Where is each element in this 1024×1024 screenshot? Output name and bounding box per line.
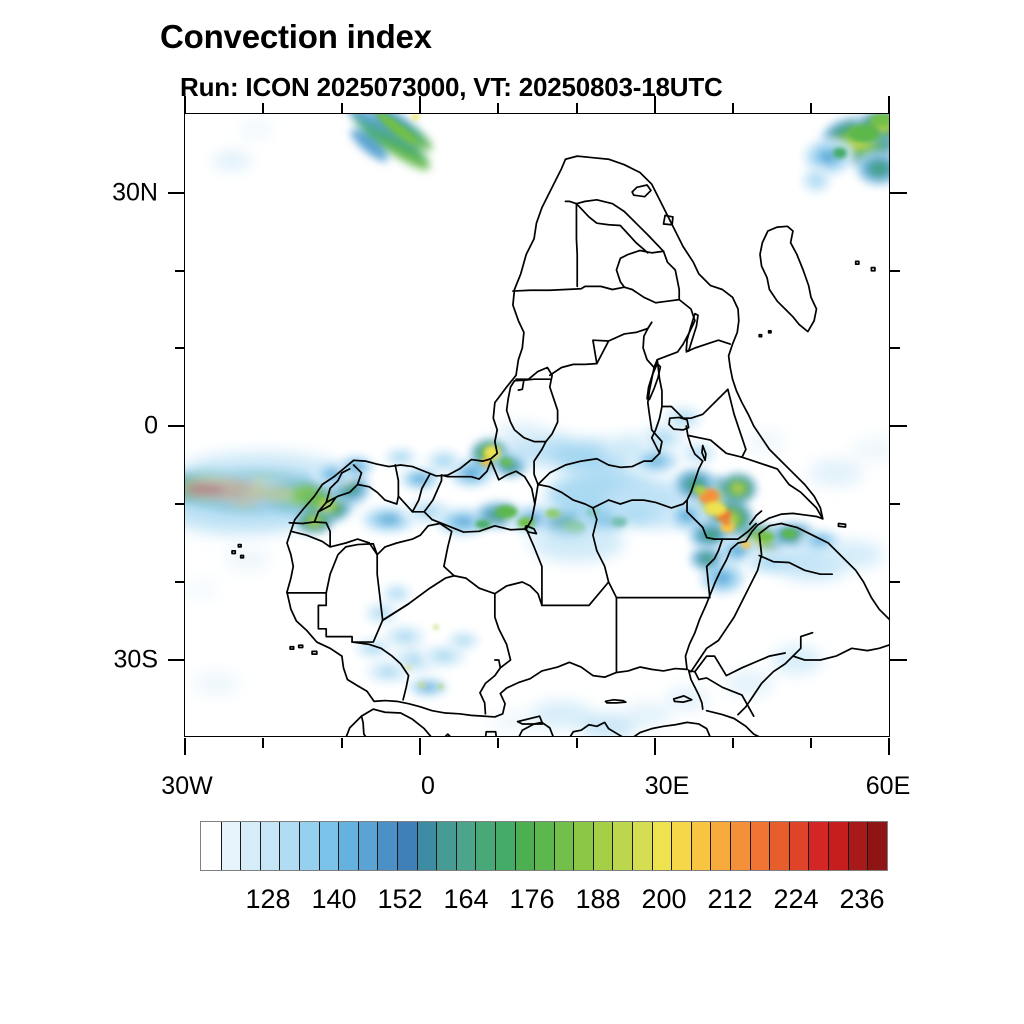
y-tick-minor-10n [175,347,185,349]
colorbar-cell-28 [750,822,770,870]
colorbar-cell-24 [671,822,691,870]
x-tick-top-minor-20w [262,103,264,113]
colorbar-label-152: 152 [377,884,422,915]
colorbar-cell-17 [534,822,554,870]
colorbar-label-164: 164 [443,884,488,915]
colorbar-cell-13 [456,822,476,870]
colorbar-label-224: 224 [773,884,818,915]
y-tick-minor-20s [175,581,185,583]
colorbar-cell-23 [652,822,672,870]
x-tick-top-minor-50e [810,103,812,113]
colorbar-cell-14 [475,822,495,870]
x-axis-label-30e: 30E [645,772,689,801]
colorbar-cell-18 [554,822,574,870]
colorbar-label-200: 200 [641,884,686,915]
x-tick-top-minor-10w [341,103,343,113]
x-tick-0 [419,738,421,755]
y-axis-label-30s: 30S [98,646,158,675]
y-tick-right-minor-20n [890,270,900,272]
colorbar-cell-21 [612,822,632,870]
x-tick-minor-20w [262,738,264,748]
colorbar-label-188: 188 [575,884,620,915]
run-info-subtitle: Run: ICON 2025073000, VT: 20250803-18UTC [180,72,723,103]
colorbar-cell-26 [710,822,730,870]
colorbar-label-140: 140 [311,884,356,915]
colorbar-cell-31 [808,822,828,870]
x-axis-label-60e: 60E [866,772,910,801]
x-axis-label-0: 0 [421,772,435,801]
colorbar-cell-12 [436,822,456,870]
y-tick-30s [168,659,185,661]
colorbar-cell-22 [632,822,652,870]
x-tick-minor-40e [732,738,734,748]
colorbar-cell-34 [867,822,887,870]
colorbar-cell-15 [495,822,515,870]
colorbar-cell-10 [397,822,417,870]
y-axis-label-30n: 30N [98,179,158,208]
colorbar-cell-5 [299,822,319,870]
x-tick-top-minor-40e [732,103,734,113]
colorbar-label-212: 212 [707,884,752,915]
y-tick-right-30s [890,659,907,661]
colorbar-cell-6 [319,822,339,870]
map-canvas [185,114,890,737]
y-tick-right-minor-10n [890,347,900,349]
y-tick-minor-10s [175,503,185,505]
x-tick-30w [184,738,186,755]
colorbar-cell-11 [417,822,437,870]
colorbar-cell-33 [848,822,868,870]
x-tick-60e [888,738,890,755]
convection-field [185,114,890,737]
x-tick-top-0 [419,96,421,113]
colorbar-cell-0 [201,822,221,870]
x-tick-minor-20e [576,738,578,748]
y-tick-minor-20n [175,270,185,272]
y-tick-0 [168,425,185,427]
colorbar-cell-9 [377,822,397,870]
y-axis-label-0: 0 [98,412,158,441]
colorbar-cell-27 [730,822,750,870]
y-tick-right-0 [890,425,907,427]
colorbar-cell-7 [338,822,358,870]
y-tick-right-30n [890,192,907,194]
colorbar-cell-29 [769,822,789,870]
x-tick-minor-10w [341,738,343,748]
x-tick-30e [654,738,656,755]
colorbar-cell-20 [593,822,613,870]
x-tick-minor-50e [810,738,812,748]
x-tick-minor-10e [497,738,499,748]
colorbar-label-236: 236 [839,884,884,915]
y-tick-right-minor-20s [890,581,900,583]
colorbar-label-176: 176 [509,884,554,915]
colorbar-cell-32 [828,822,848,870]
y-tick-30n [168,192,185,194]
colorbar-cell-1 [221,822,241,870]
x-axis-label-30w: 30W [161,772,212,801]
x-tick-top-30e [654,96,656,113]
x-tick-top-30w [184,96,186,113]
colorbar-label-128: 128 [245,884,290,915]
y-tick-right-minor-10s [890,503,900,505]
x-tick-top-60e [888,96,890,113]
colorbar-cell-30 [789,822,809,870]
colorbar-cell-4 [279,822,299,870]
convection-index-figure: Convection index Run: ICON 2025073000, V… [0,0,1024,1024]
colorbar-cell-19 [573,822,593,870]
colorbar-cell-3 [260,822,280,870]
map-plot-area [184,113,890,737]
colorbar[interactable] [200,821,888,871]
colorbar-cell-25 [691,822,711,870]
x-tick-top-minor-10e [497,103,499,113]
colorbar-cell-8 [358,822,378,870]
colorbar-cell-2 [240,822,260,870]
page-title: Convection index [160,18,432,56]
x-tick-top-minor-20e [576,103,578,113]
colorbar-cell-16 [515,822,535,870]
